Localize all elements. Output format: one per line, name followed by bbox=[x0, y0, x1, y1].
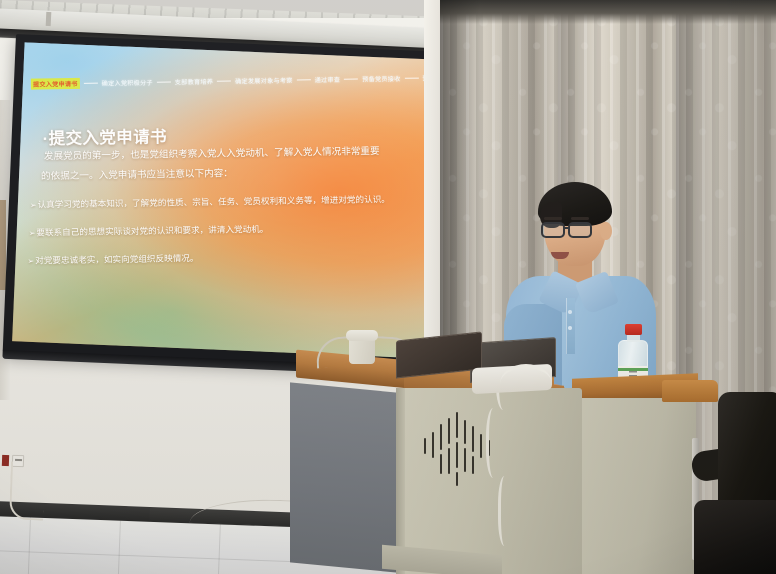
wall-cable bbox=[9, 461, 45, 520]
breadcrumb-step-5: 预备党员接收 bbox=[362, 74, 400, 84]
bullet-marker-icon: ➢ bbox=[29, 229, 36, 238]
breadcrumb-dash bbox=[344, 79, 358, 80]
photo-scene: 提交入党申请书 确定入党积极分子 支部教育培养 确定发展对象与考察 通过审查 预… bbox=[0, 0, 776, 574]
slide-title: ·提交入党申请书 bbox=[43, 123, 168, 149]
wall-outlet-red bbox=[2, 455, 9, 466]
floor-tile-line bbox=[217, 524, 221, 574]
floor-tile-line bbox=[117, 521, 121, 574]
glasses-lens-right bbox=[568, 222, 592, 238]
podium-speaker-grille bbox=[424, 412, 494, 480]
glasses-bridge bbox=[564, 227, 570, 229]
slide-paragraph-2: 的依据之一。入党申请书应当注意以下内容： bbox=[41, 164, 466, 183]
breadcrumb-current-step: 提交入党申请书 bbox=[31, 78, 80, 90]
breadcrumb-step-4: 通过审查 bbox=[315, 75, 341, 84]
projection-screen: 提交入党申请书 确定入党积极分子 支部教育培养 确定发展对象与考察 通过审查 预… bbox=[12, 42, 466, 359]
slide-bullet-1-text: 认真学习党的基本知识，了解党的性质、宗旨、任务、党员权利和义务等，增进对党的认识… bbox=[37, 194, 389, 210]
curtain-rod-shadow bbox=[440, 0, 776, 24]
podium-right-panel bbox=[578, 398, 696, 574]
projection-screen-frame: 提交入党申请书 确定入党积极分子 支部教育培养 确定发展对象与考察 通过审查 预… bbox=[3, 34, 476, 371]
breadcrumb-step-3: 确定发展对象与考察 bbox=[235, 76, 293, 86]
table-edge-wood bbox=[662, 380, 718, 402]
screen-bracket bbox=[46, 12, 52, 26]
presenter-ear bbox=[600, 222, 612, 240]
floor-tile-line bbox=[27, 517, 31, 574]
slide: 提交入党申请书 确定入党积极分子 支部教育培养 确定发展对象与考察 通过审查 预… bbox=[12, 42, 466, 359]
breadcrumb-dash bbox=[84, 83, 98, 84]
slide-breadcrumb: 提交入党申请书 确定入党积极分子 支部教育培养 确定发展对象与考察 通过审查 预… bbox=[31, 72, 461, 90]
shirt-button bbox=[568, 310, 572, 314]
presenter-eyebrow-left bbox=[544, 217, 562, 220]
glasses-lens-left bbox=[541, 222, 565, 238]
chair-seat bbox=[694, 500, 776, 574]
slide-bullet-2: ➢要联系自己的思想实际谈对党的认识和要求，讲清入党动机。 bbox=[29, 221, 465, 239]
cup-lid bbox=[346, 330, 378, 341]
breadcrumb-dash bbox=[157, 81, 171, 82]
bullet-marker-icon: ➢ bbox=[27, 257, 34, 266]
bottle-cap bbox=[625, 324, 642, 335]
shirt-button bbox=[568, 326, 572, 330]
slide-bullet-3: ➢对党要忠诚老实，如实向党组织反映情况。 bbox=[27, 249, 463, 267]
slide-bullet-2-text: 要联系自己的思想实际谈对党的认识和要求，讲清入党动机。 bbox=[36, 224, 268, 238]
breadcrumb-step-2: 支部教育培养 bbox=[175, 77, 213, 87]
breadcrumb-dash bbox=[404, 78, 418, 79]
bottle-neck bbox=[627, 334, 640, 342]
breadcrumb-dash bbox=[217, 81, 231, 82]
slide-bullet-3-text: 对党要忠诚老实，如实向党组织反映情况。 bbox=[35, 253, 198, 266]
bullet-marker-icon: ➢ bbox=[30, 201, 37, 210]
slide-bullet-1: ➢认真学习党的基本知识，了解党的性质、宗旨、任务、党员权利和义务等，增进对党的认… bbox=[30, 193, 466, 211]
breadcrumb-step-1: 确定入党积极分子 bbox=[102, 78, 153, 88]
breadcrumb-dash bbox=[297, 79, 311, 80]
presenter-eyebrow-right bbox=[571, 217, 589, 220]
